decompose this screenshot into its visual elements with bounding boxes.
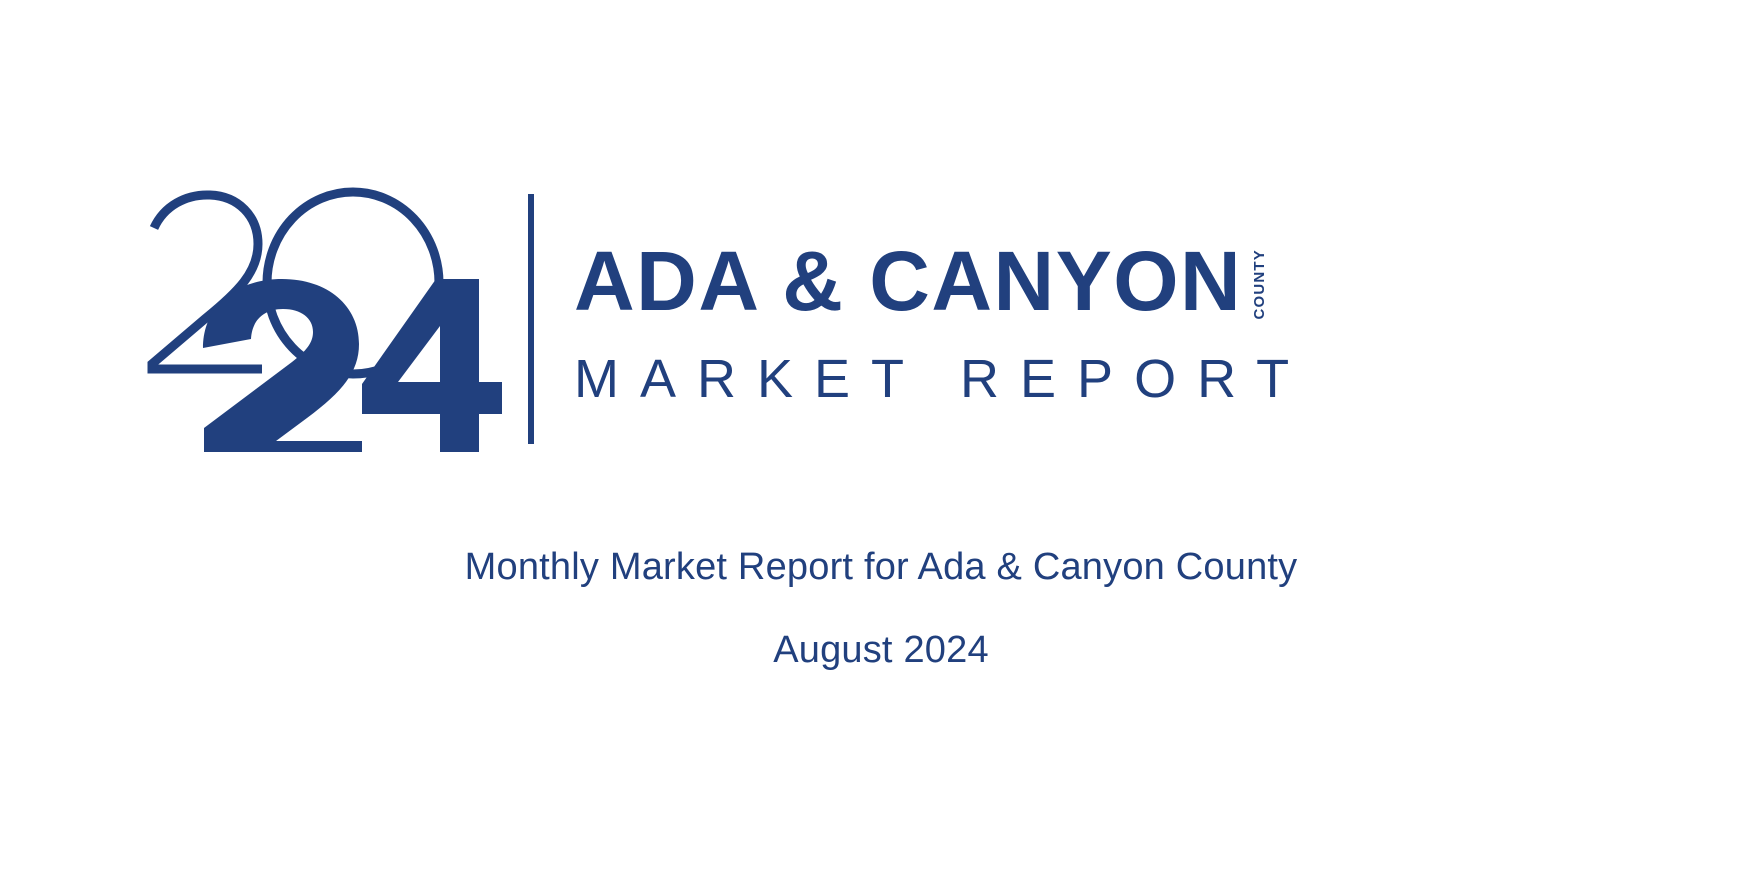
cover-caption-block: Monthly Market Report for Ada & Canyon C… bbox=[0, 548, 1762, 669]
logo-title-ada-canyon: ADA & CANYON bbox=[574, 242, 1242, 322]
logo-wordmark-line-1: ADA & CANYON COUNTY bbox=[574, 242, 1430, 322]
logo-superscript-county: COUNTY bbox=[1252, 249, 1267, 320]
logo-subtitle-market-report: MARKET REPORT bbox=[574, 348, 1430, 410]
brand-logo-lockup: ADA & CANYON COUNTY MARKET REPORT bbox=[140, 186, 1430, 454]
logo-divider-rule bbox=[528, 194, 534, 444]
report-cover-page: ADA & CANYON COUNTY MARKET REPORT Monthl… bbox=[0, 0, 1762, 896]
logo-wordmark: ADA & CANYON COUNTY MARKET REPORT bbox=[574, 230, 1430, 410]
year-mark-2024 bbox=[140, 186, 508, 454]
caption-primary: Monthly Market Report for Ada & Canyon C… bbox=[0, 548, 1762, 586]
caption-secondary: August 2024 bbox=[0, 631, 1762, 669]
